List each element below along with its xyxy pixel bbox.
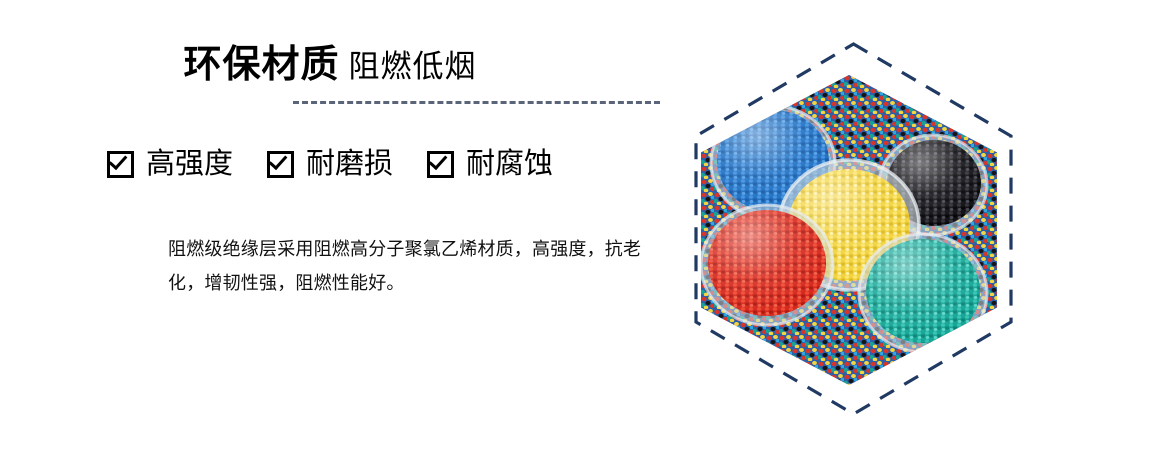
feature-label: 耐腐蚀: [466, 150, 553, 179]
checkbox-checked-icon: [107, 151, 134, 178]
checkbox-checked-icon: [267, 151, 294, 178]
feature-item-strength: 高强度: [107, 150, 233, 179]
feature-label: 耐磨损: [306, 150, 393, 179]
headline-main: 环保材质: [183, 44, 339, 86]
checkbox-checked-icon: [427, 151, 454, 178]
hexagon-graphic: [680, 26, 1027, 432]
feature-item-corrosion: 耐腐蚀: [427, 150, 553, 179]
title-divider: [293, 101, 660, 104]
feature-item-wear: 耐磨损: [267, 150, 393, 179]
description-text: 阻燃级绝缘层采用阻燃高分子聚氯乙烯材质，高强度，抗老化，增韧性强，阻燃性能好。: [168, 232, 668, 300]
feature-label: 高强度: [146, 150, 233, 179]
headline-sub: 阻燃低烟: [349, 49, 477, 84]
promo-banner: 环保材质阻燃低烟 高强度 耐磨损 耐腐蚀 阻燃级绝缘层采用阻燃高分子聚氯乙烯材质…: [0, 0, 1169, 452]
text-column: 环保材质阻燃低烟 高强度 耐磨损 耐腐蚀 阻燃级绝缘层采用阻燃高分子聚氯乙烯材质…: [0, 0, 690, 452]
feature-list: 高强度 耐磨损 耐腐蚀: [0, 150, 660, 179]
page-title: 环保材质阻燃低烟: [0, 46, 660, 84]
